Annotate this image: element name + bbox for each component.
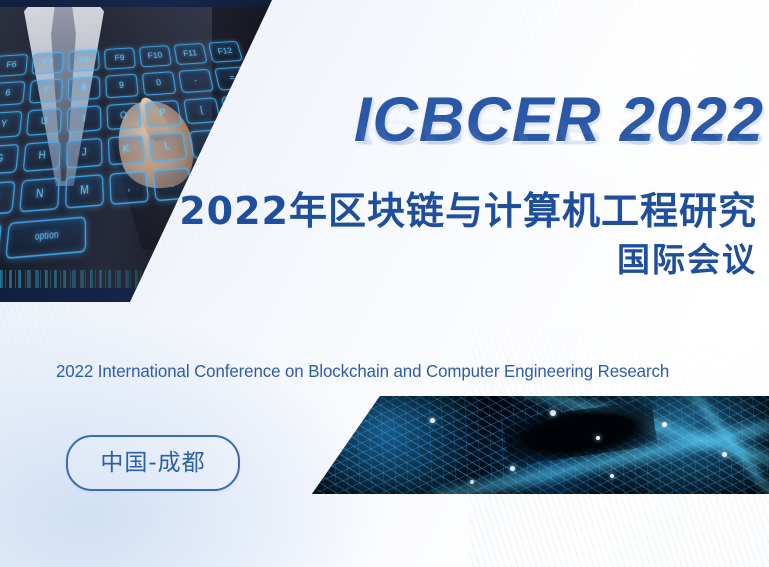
english-subtitle: 2022 International Conference on Blockch… xyxy=(56,360,737,382)
mesh-node-4 xyxy=(662,422,667,427)
key-y: Y xyxy=(0,111,23,139)
key-0: 0 xyxy=(142,71,177,96)
page-title-reflection: ICBCER 2022 xyxy=(236,113,764,150)
key-b: B xyxy=(0,181,16,217)
key-i: I xyxy=(67,105,102,133)
mesh-node-1 xyxy=(430,418,435,423)
key-o: O xyxy=(106,103,142,130)
key-f6: F6 xyxy=(0,54,28,77)
key-h: H xyxy=(23,141,61,172)
mesh-node-3 xyxy=(596,436,600,440)
key-f11: F11 xyxy=(174,43,208,65)
key-p: P xyxy=(145,100,182,127)
photo-top-border xyxy=(0,0,278,7)
mesh-node-2 xyxy=(550,410,556,416)
blockchain-network-photo xyxy=(310,396,769,494)
chinese-title-line-1: 2022年区块链与计算机工程研究 xyxy=(137,188,757,234)
conference-poster: F5 F6 F7 F8 F9 F10 F11 F12 5 6 7 8 9 0 -… xyxy=(0,0,769,567)
location-badge-label: 中国-成都 xyxy=(100,452,205,475)
key-g: G xyxy=(0,144,19,176)
key-semicolon: ; xyxy=(189,129,229,159)
key-f10: F10 xyxy=(139,45,172,67)
location-badge: 中国-成都 xyxy=(66,435,240,491)
main-title-block: ICBCER 2022 ICBCER 2022 xyxy=(236,86,764,186)
photo-bottom-border xyxy=(0,288,278,302)
key-n: N xyxy=(19,177,60,212)
key-minus: - xyxy=(178,69,214,93)
mesh-node-8 xyxy=(470,480,474,484)
chinese-title-line-2: 国际会议 xyxy=(137,238,757,282)
key-f9: F9 xyxy=(104,47,136,69)
key-9: 9 xyxy=(105,74,139,99)
mesh-node-7 xyxy=(722,452,727,457)
key-u: U xyxy=(26,108,62,136)
key-f12: F12 xyxy=(208,41,243,63)
key-bracket-left: [ xyxy=(183,97,221,124)
key-option: option xyxy=(5,216,86,259)
key-k: K xyxy=(108,135,146,166)
mesh-node-6 xyxy=(610,474,614,478)
key-f8: F8 xyxy=(68,50,99,73)
key-f7: F7 xyxy=(31,52,63,75)
key-command: command xyxy=(0,223,2,267)
key-m: M xyxy=(65,174,104,209)
mesh-node-5 xyxy=(510,466,515,471)
key-l: L xyxy=(148,132,187,162)
key-6: 6 xyxy=(0,81,26,106)
key-8: 8 xyxy=(68,76,101,101)
key-7: 7 xyxy=(29,78,63,103)
chinese-title-block: 2022年区块链与计算机工程研究 国际会议 xyxy=(137,188,757,282)
key-j: J xyxy=(66,138,103,169)
